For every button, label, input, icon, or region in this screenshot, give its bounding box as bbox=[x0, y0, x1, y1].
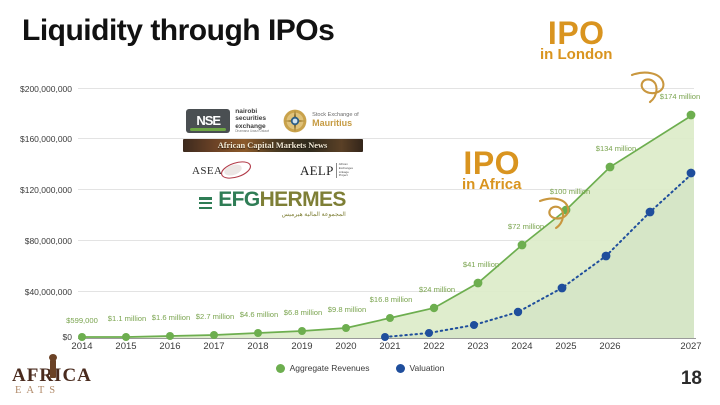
efg-arabic: المجموعة المالية هيرميس bbox=[218, 211, 346, 218]
x-tick-label: 2016 bbox=[145, 341, 195, 352]
legend-item-aggregate-revenues: Aggregate Revenues bbox=[276, 363, 370, 373]
x-tick-label: 2025 bbox=[541, 341, 591, 352]
legend-swatch-blue-icon bbox=[396, 364, 405, 373]
data-label: $174 million bbox=[660, 92, 701, 101]
partner-logos: NSE nairobi securities exchange Dhamana … bbox=[160, 108, 385, 218]
nse-mark-icon: NSE bbox=[186, 109, 230, 133]
efg-part1: EFG bbox=[218, 189, 259, 210]
brand-figure-icon bbox=[50, 358, 56, 378]
mauritius-wordmark: Stock Exchange of Mauritius bbox=[312, 113, 359, 128]
page-title: Liquidity through IPOs bbox=[22, 14, 334, 48]
x-tick-label: 2027 bbox=[666, 341, 716, 352]
gridline bbox=[78, 88, 694, 89]
legend-label: Valuation bbox=[410, 363, 445, 373]
logo-nse: NSE nairobi securities exchange Dhamana … bbox=[186, 108, 269, 134]
x-tick-label: 2023 bbox=[453, 341, 503, 352]
logo-aelp: AELP African Exchanges Linkage Project bbox=[300, 163, 353, 179]
data-label: $16.8 million bbox=[370, 295, 413, 304]
x-tick-label: 2017 bbox=[189, 341, 239, 352]
logo-efg-hermes: EFG HERMES المجموعة المالية هيرميس bbox=[160, 189, 385, 218]
logo-row-associations: ASEA AELP African Exchanges Linkage Proj… bbox=[160, 161, 385, 181]
efg-part2: HERMES bbox=[260, 189, 346, 210]
data-label: $134 million bbox=[596, 144, 637, 153]
logo-african-capital-markets-news: African Capital Markets News bbox=[183, 139, 363, 152]
data-label: $72 million bbox=[508, 222, 544, 231]
aelp-text: AELP bbox=[300, 163, 334, 179]
x-tick-label: 2020 bbox=[321, 341, 371, 352]
asea-swoosh-icon bbox=[192, 161, 262, 181]
annotation-subtitle: in London bbox=[540, 48, 612, 62]
acmn-text: African Capital Markets News bbox=[218, 141, 328, 150]
data-label: $4.6 million bbox=[240, 310, 278, 319]
y-tick-label: $80,000,000 bbox=[4, 236, 72, 246]
nse-green-bar-icon bbox=[190, 128, 226, 131]
brand-logo-africa-eats: AFRICA EATS bbox=[12, 366, 92, 397]
nse-word-line1: nairobi bbox=[235, 108, 269, 115]
logo-asea: ASEA bbox=[192, 161, 262, 181]
compass-rose-icon bbox=[283, 109, 307, 133]
annotation-title: IPO bbox=[540, 18, 612, 48]
chart-legend: Aggregate Revenues Valuation bbox=[0, 363, 720, 373]
aelp-subtext: African Exchanges Linkage Project bbox=[336, 163, 353, 178]
x-tick-label: 2015 bbox=[101, 341, 151, 352]
x-tick-label: 2018 bbox=[233, 341, 283, 352]
mauritius-name: Mauritius bbox=[312, 119, 359, 128]
nse-word-line2: securities bbox=[235, 115, 269, 122]
brand-line1: AFRICA bbox=[12, 366, 92, 385]
data-label: $1.1 million bbox=[108, 314, 146, 323]
x-tick-label: 2024 bbox=[497, 341, 547, 352]
annotation-ipo-africa: IPO in Africa bbox=[462, 148, 521, 193]
y-tick-label: $160,000,000 bbox=[4, 134, 72, 144]
data-label: $100 million bbox=[550, 187, 591, 196]
data-label: $1.6 million bbox=[152, 313, 190, 322]
data-label: $9.8 million bbox=[328, 305, 366, 314]
legend-label: Aggregate Revenues bbox=[290, 363, 370, 373]
legend-swatch-green-icon bbox=[276, 364, 285, 373]
gridline bbox=[78, 291, 694, 292]
legend-item-valuation: Valuation bbox=[396, 363, 445, 373]
y-tick-label: $120,000,000 bbox=[4, 185, 72, 195]
data-label: $2.7 million bbox=[196, 312, 234, 321]
nse-initials: NSE bbox=[196, 113, 220, 128]
data-label: $599,000 bbox=[66, 316, 98, 325]
data-label: $6.8 million bbox=[284, 308, 322, 317]
data-label: $24 million bbox=[419, 285, 455, 294]
aelp-sub-line4: Project bbox=[339, 174, 353, 178]
x-tick-label: 2019 bbox=[277, 341, 327, 352]
annotation-subtitle: in Africa bbox=[462, 178, 521, 192]
x-tick-label: 2026 bbox=[585, 341, 635, 352]
y-tick-label: $200,000,000 bbox=[4, 84, 72, 94]
brand-line2: EATS bbox=[15, 386, 92, 397]
data-label: $41 million bbox=[463, 260, 499, 269]
gridline bbox=[78, 240, 694, 241]
nse-tagline: Dhamana Uwazi Ustawi bbox=[235, 130, 269, 134]
page-number: 18 bbox=[681, 368, 702, 390]
slide-root: Liquidity through IPOs $200,000,000 $160… bbox=[0, 0, 720, 405]
nse-wordmark: nairobi securities exchange Dhamana Uwaz… bbox=[235, 108, 269, 134]
efg-bars-icon bbox=[199, 197, 212, 209]
annotation-title: IPO bbox=[462, 148, 521, 178]
x-tick-label: 2021 bbox=[365, 341, 415, 352]
x-axis-line bbox=[78, 338, 696, 339]
logo-mauritius: Stock Exchange of Mauritius bbox=[283, 109, 359, 133]
x-tick-label: 2022 bbox=[409, 341, 459, 352]
x-tick-label: 2014 bbox=[57, 341, 107, 352]
annotation-ipo-london: IPO in London bbox=[540, 18, 612, 63]
y-tick-label: $40,000,000 bbox=[4, 287, 72, 297]
logo-row-exchanges: NSE nairobi securities exchange Dhamana … bbox=[160, 108, 385, 134]
